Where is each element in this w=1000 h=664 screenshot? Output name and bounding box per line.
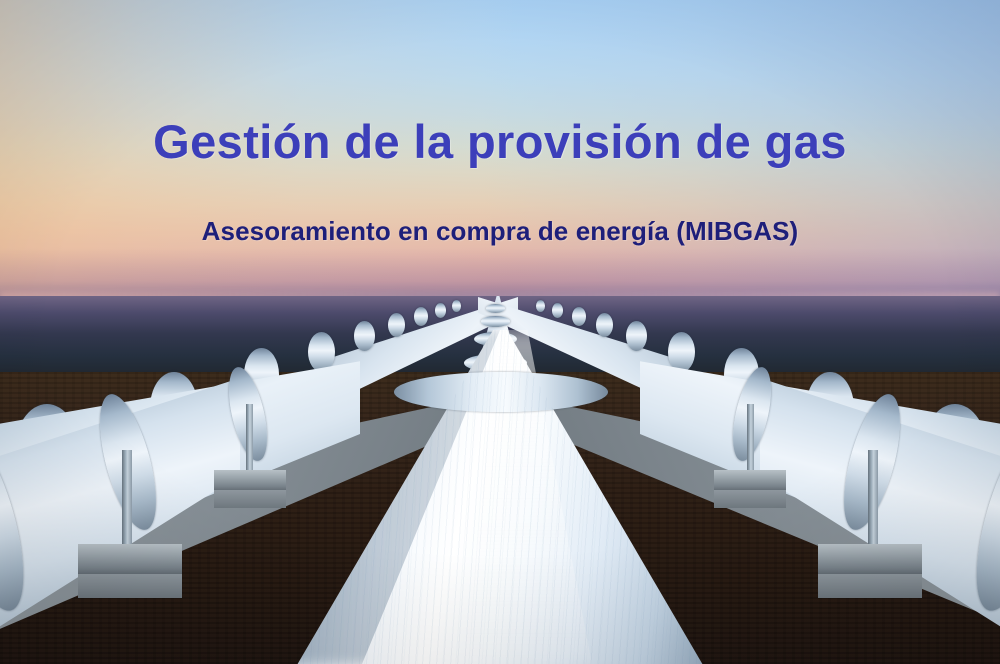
pipe-support-strut (747, 404, 754, 474)
pipe-collar (481, 316, 510, 327)
pipe-collar (536, 300, 545, 312)
pipe-collar (435, 303, 446, 318)
pipe-support-pedestal (714, 470, 786, 492)
page-title: Gestión de la provisión de gas (0, 114, 1000, 169)
pipe-collar (308, 332, 335, 372)
pipe-support-pedestal (818, 544, 922, 576)
slide-canvas: Gestión de la provisión de gas Asesorami… (0, 0, 1000, 664)
pipe-collar (452, 300, 461, 312)
pipe-collar (626, 321, 647, 351)
pipe-support-strut (868, 450, 878, 548)
pipe-collar (354, 321, 375, 351)
pipe-support-pedestal (214, 470, 286, 492)
pipe-collar (668, 332, 695, 372)
pipe-support-strut (246, 404, 253, 474)
pipe-support-strut (122, 450, 132, 548)
page-subtitle: Asesoramiento en compra de energía (MIBG… (0, 216, 1000, 247)
pipe-support-pedestal-face (78, 574, 182, 598)
pipe-collar (414, 307, 428, 326)
pipe-support-pedestal-face (818, 574, 922, 598)
pipe-collar (552, 303, 563, 318)
pipe-collar (572, 307, 586, 326)
pipe-collar (486, 304, 505, 313)
pipe-support-pedestal-face (214, 490, 286, 508)
pipe-collar (596, 313, 613, 337)
pipe-support-pedestal (78, 544, 182, 576)
pipe-support-pedestal-face (714, 490, 786, 508)
pipe-collar (388, 313, 405, 337)
